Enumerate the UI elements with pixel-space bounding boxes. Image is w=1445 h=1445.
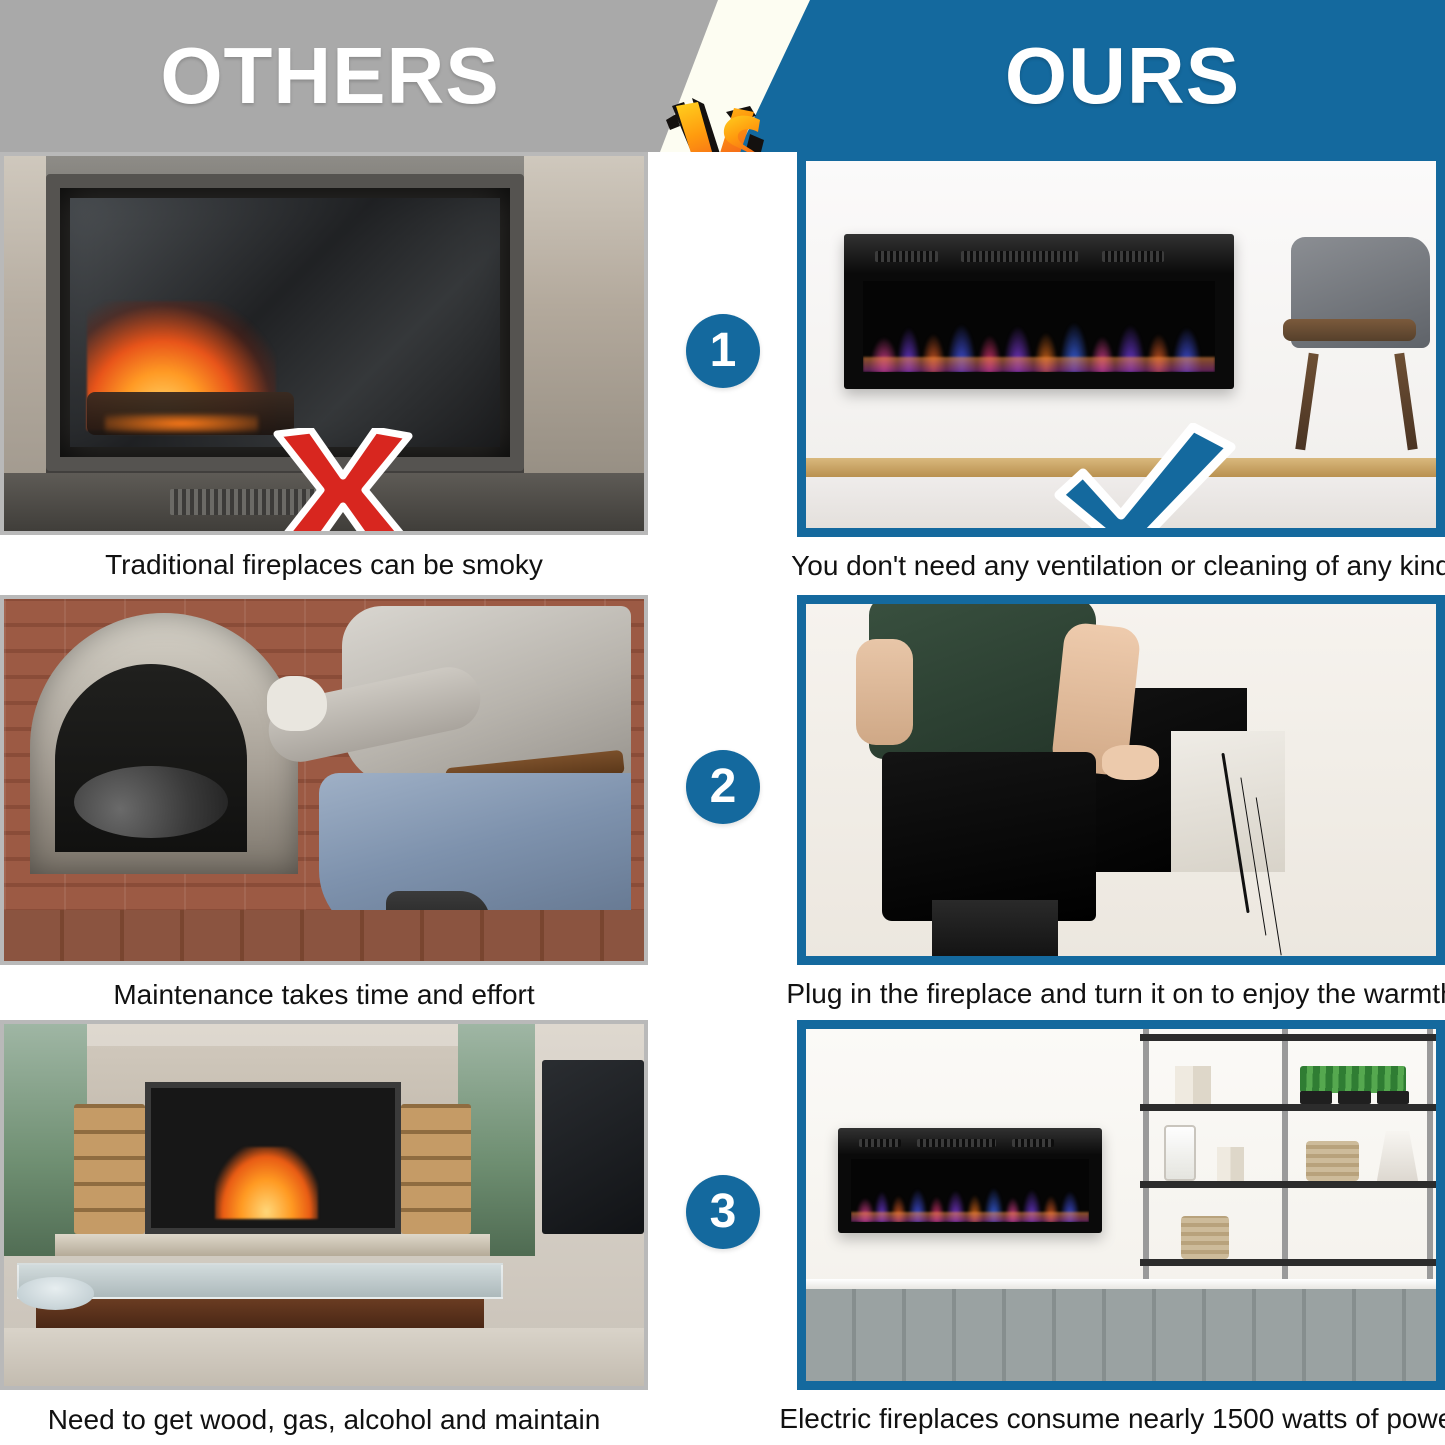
row-3-step-column: 3 (648, 1020, 797, 1445)
comparison-infographic: OTHERS OURS (0, 0, 1445, 1445)
row-2-ours-caption: Plug in the fireplace and turn it on to … (797, 965, 1445, 1023)
comparison-row-1: Traditional fireplaces can be smoky 1 (0, 152, 1445, 595)
row-3-ours-caption: Electric fireplaces consume nearly 1500 … (797, 1390, 1445, 1445)
row-3-ours-cell: Electric fireplaces consume nearly 1500 … (797, 1020, 1445, 1445)
row-1-ours-caption: You don't need any ventilation or cleani… (797, 537, 1445, 595)
row-1-others-caption: Traditional fireplaces can be smoky (0, 535, 648, 595)
row-3-ours-photo (797, 1020, 1445, 1390)
others-title: OTHERS (0, 0, 660, 152)
comparison-row-2: Maintenance takes time and effort 2 (0, 595, 1445, 1020)
row-1-ours-cell: You don't need any ventilation or cleani… (797, 152, 1445, 595)
row-2-ours-photo (797, 595, 1445, 965)
row-2-ours-cell: Plug in the fireplace and turn it on to … (797, 595, 1445, 1023)
row-2-others-cell: Maintenance takes time and effort (0, 595, 648, 1025)
row-3-others-caption: Need to get wood, gas, alcohol and maint… (0, 1390, 648, 1445)
row-1-others-photo (0, 152, 648, 535)
step-number-badge-2: 2 (686, 750, 760, 824)
row-2-others-photo (0, 595, 648, 965)
row-1-ours-photo (797, 152, 1445, 537)
row-1-step-column: 1 (648, 152, 797, 595)
row-1-others-cell: Traditional fireplaces can be smoky (0, 152, 648, 595)
row-3-others-photo (0, 1020, 648, 1390)
step-number-badge-3: 3 (686, 1175, 760, 1249)
row-3-others-cell: Need to get wood, gas, alcohol and maint… (0, 1020, 648, 1445)
ours-title: OURS (800, 0, 1445, 152)
header-banner: OTHERS OURS (0, 0, 1445, 152)
step-number-badge-1: 1 (686, 314, 760, 388)
row-2-others-caption: Maintenance takes time and effort (0, 965, 648, 1025)
comparison-row-3: Need to get wood, gas, alcohol and maint… (0, 1020, 1445, 1445)
row-2-step-column: 2 (648, 595, 797, 1020)
vs-badge-icon (664, 96, 776, 152)
